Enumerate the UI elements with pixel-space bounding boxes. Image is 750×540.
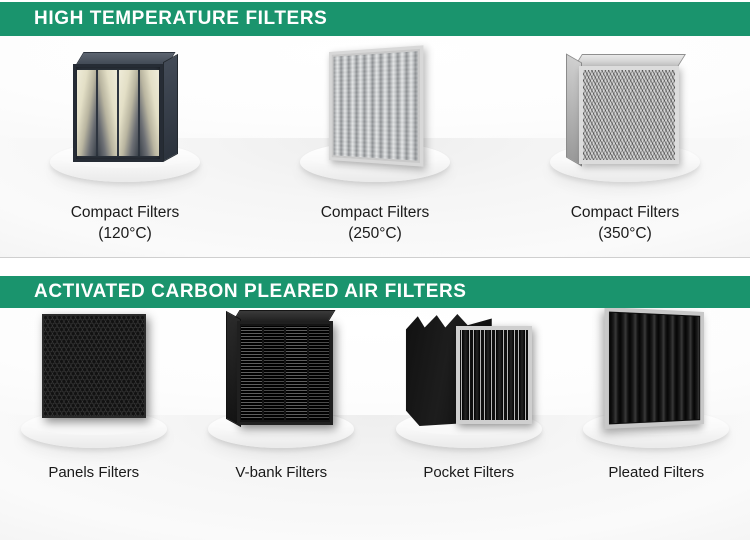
- product-stage: [250, 36, 500, 196]
- filter-front-face: [579, 66, 679, 164]
- product-image-black-honeycomb-carbon-panel: [42, 314, 146, 418]
- filter-front-face: [42, 314, 146, 418]
- product-caption: Panels Filters: [48, 462, 139, 483]
- product-caption: Compact Filters (120°C): [71, 202, 180, 244]
- honeycomb-texture: [44, 316, 144, 416]
- product-image-black-pocket-bag-filter: [406, 312, 532, 428]
- product-row-high-temperature: Compact Filters (120°C) Compact Filters …: [0, 36, 750, 258]
- product-stage: [0, 36, 250, 196]
- pleat-mesh-texture: [583, 70, 675, 160]
- product-caption: Compact Filters (250°C): [321, 202, 430, 244]
- product-caption: Pocket Filters: [423, 462, 514, 483]
- product-image-box-deep-pleat-hepa-filter: [567, 54, 683, 166]
- section-body-high-temperature: Compact Filters (120°C) Compact Filters …: [0, 36, 750, 258]
- v-cell: [286, 326, 307, 420]
- filter-front-face: [73, 64, 163, 162]
- product-image-v-bank-compact-filter-light: [73, 52, 177, 162]
- product-catalog-page: HIGH TEMPERATURE FILTERS: [0, 0, 750, 540]
- product-stage: [375, 308, 563, 458]
- pocket-slot: [507, 330, 515, 420]
- product-card-panels-filters[interactable]: Panels Filters: [0, 308, 188, 540]
- section-title: ACTIVATED CARBON PLEARED AIR FILTERS: [0, 281, 467, 303]
- filter-frame: [456, 326, 532, 424]
- section-header-activated-carbon: ACTIVATED CARBON PLEARED AIR FILTERS: [0, 276, 750, 308]
- product-image-metal-pleated-panel-filter: [329, 52, 421, 160]
- pocket-slot: [495, 330, 503, 420]
- product-card-pleated-filters[interactable]: Pleated Filters: [563, 308, 750, 540]
- v-cell: [264, 326, 285, 420]
- v-cell: [77, 70, 96, 156]
- pleat-texture: [334, 51, 418, 160]
- product-card-compact-250[interactable]: Compact Filters (250°C): [250, 36, 500, 258]
- product-card-pocket-filters[interactable]: Pocket Filters: [375, 308, 563, 540]
- pocket-slot: [518, 330, 526, 420]
- filter-panel: [605, 308, 705, 429]
- product-stage: [500, 36, 750, 196]
- v-cell: [119, 70, 138, 156]
- product-card-compact-120[interactable]: Compact Filters (120°C): [0, 36, 250, 258]
- product-stage: [188, 308, 376, 458]
- product-stage: [563, 308, 750, 458]
- v-cell: [140, 70, 159, 156]
- filter-panel: [329, 45, 423, 166]
- v-cell: [241, 326, 262, 420]
- pocket-slot: [461, 330, 469, 420]
- product-image-black-v-bank-carbon-filter: [227, 310, 335, 426]
- product-stage: [0, 308, 188, 458]
- section-title: HIGH TEMPERATURE FILTERS: [0, 8, 327, 30]
- section-header-high-temperature: HIGH TEMPERATURE FILTERS: [0, 2, 750, 36]
- pocket-slot: [473, 330, 481, 420]
- product-card-compact-350[interactable]: Compact Filters (350°C): [500, 36, 750, 258]
- pocket-slot: [484, 330, 492, 420]
- v-cell: [309, 326, 330, 420]
- filter-side-face: [163, 54, 178, 162]
- product-caption: Compact Filters (350°C): [571, 202, 680, 244]
- product-caption: Pleated Filters: [608, 462, 704, 483]
- section-divider: [0, 257, 750, 258]
- section-body-activated-carbon: Panels Filters: [0, 308, 750, 540]
- v-cell: [98, 70, 117, 156]
- product-row-activated-carbon: Panels Filters: [0, 308, 750, 540]
- product-card-v-bank-filters[interactable]: V-bank Filters: [188, 308, 376, 540]
- pleat-texture: [610, 313, 699, 424]
- filter-front-face: [237, 321, 333, 425]
- product-caption: V-bank Filters: [235, 462, 327, 483]
- product-image-black-pleated-panel-filter: [608, 312, 704, 424]
